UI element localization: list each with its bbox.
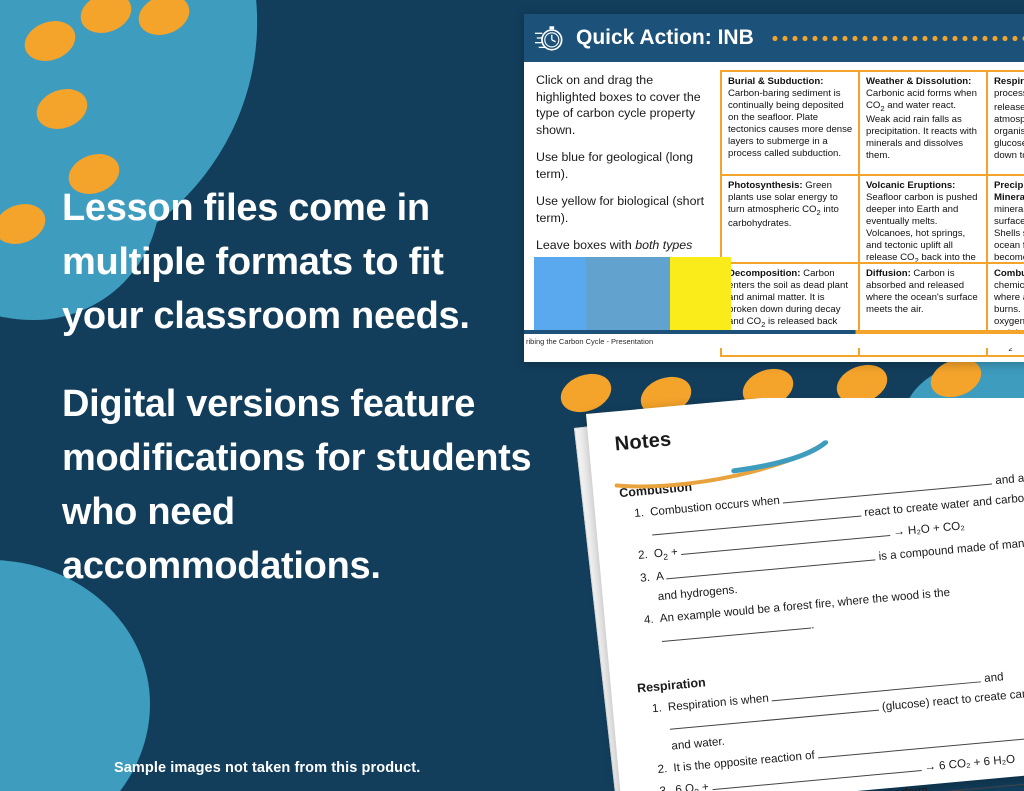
notes-worksheet[interactable]: Notes Combustion Combustion occurs when … <box>530 398 1024 791</box>
slide-body: Click on and drag the highlighted boxes … <box>524 62 1024 348</box>
cell-title: Photosynthesis: <box>728 180 803 191</box>
notes-sheet[interactable]: Notes Combustion Combustion occurs when … <box>586 398 1024 791</box>
teal-dot <box>21 661 78 711</box>
cell-title: Diffusion: <box>866 268 911 279</box>
presentation-slide[interactable]: Quick Action: INB Click on and drag the … <box>524 14 1024 362</box>
item-text-post: . <box>810 618 814 631</box>
cell-respiration[interactable]: Respiration: In this process, CO2 is rel… <box>986 70 1024 176</box>
promo-paragraph-2: Digital versions feature modifications f… <box>62 378 532 594</box>
teal-blob-bottom-left <box>0 560 150 791</box>
item-text-mid: and <box>980 670 1004 685</box>
teal-dot <box>57 745 114 791</box>
item-text-mid: and a <box>992 472 1024 488</box>
cell-title: Combustion: <box>994 268 1024 279</box>
cell-title: Precipitation of Minerals: <box>994 180 1024 203</box>
instruction-4-pre: Leave boxes with <box>536 238 635 252</box>
cell-photosynthesis[interactable]: Photosynthesis: Green plants use solar e… <box>720 174 860 264</box>
item-text-pre: 6 O <box>675 782 695 791</box>
cell-body: Carbon-baring sediment is continually be… <box>728 88 852 159</box>
promo-footnote: Sample images not taken from this produc… <box>114 760 420 776</box>
orange-dot <box>31 82 93 135</box>
cell-weather-dissolution[interactable]: Weather & Dissolution: Carbonic acid for… <box>858 70 988 176</box>
cell-title: Respiration: <box>994 76 1024 87</box>
fill-in-blank[interactable] <box>670 710 879 730</box>
cell-precipitation-of-minerals[interactable]: Precipitation of Minerals: Dissolved min… <box>986 174 1024 264</box>
fill-in-blank[interactable] <box>662 627 811 642</box>
item-text-pre: Respiration is when <box>667 691 772 713</box>
cell-burial-subduction[interactable]: Burial & Subduction: Carbon-baring sedim… <box>720 70 860 176</box>
orange-dot <box>75 0 137 40</box>
cell-title: Decomposition: <box>728 268 801 279</box>
item-text-mid: + <box>667 545 681 559</box>
orange-dot <box>0 197 51 250</box>
dotted-rule <box>770 36 1024 41</box>
item-text-mid: + <box>698 780 712 791</box>
instruction-3: Use yellow for biological (short term). <box>536 193 708 226</box>
cell-title: Weather & Dissolution: <box>866 76 971 87</box>
item-text-pre: Combustion occurs when <box>650 494 784 519</box>
cell-volcanic-eruptions[interactable]: Volcanic Eruptions: Seafloor carbon is p… <box>858 174 988 264</box>
fill-in-blank[interactable] <box>667 559 876 579</box>
orange-dot <box>133 0 195 42</box>
item-text-pre: A <box>655 569 666 583</box>
stopwatch-icon <box>534 23 564 53</box>
instruction-1: Click on and drag the highlighted boxes … <box>536 72 708 138</box>
item-text-post: → 6 CO₂ + 6 H₂O <box>921 753 1016 774</box>
item-text-post: → H₂O + CO₂ <box>889 519 965 539</box>
grid-row: Photosynthesis: Green plants use solar e… <box>720 176 1024 264</box>
promo-paragraph-1: Lesson files come in multiple formats to… <box>62 182 532 344</box>
promo-graphic: Lesson files come in multiple formats to… <box>0 0 1024 791</box>
teal-dot <box>0 601 57 651</box>
orange-dot <box>19 14 81 67</box>
teal-dot <box>0 715 57 765</box>
slide-title: Quick Action: INB <box>576 26 754 50</box>
fill-in-blank[interactable] <box>931 779 1024 791</box>
promo-copy: Lesson files come in multiple formats to… <box>62 182 532 594</box>
slide-header: Quick Action: INB <box>524 14 1024 62</box>
instruction-4-emphasis: both types <box>635 238 692 252</box>
slide-footer: ribing the Carbon Cycle - Presentation <box>524 334 1024 348</box>
instructions-column: Click on and drag the highlighted boxes … <box>524 62 720 348</box>
cell-title: Burial & Subduction: <box>728 76 823 87</box>
carbon-cycle-grid: Burial & Subduction: Carbon-baring sedim… <box>720 62 1024 348</box>
instruction-2: Use blue for geological (long term). <box>536 149 708 182</box>
grid-row: Burial & Subduction: Carbon-baring sedim… <box>720 70 1024 176</box>
cell-title: Volcanic Eruptions: <box>866 180 955 191</box>
